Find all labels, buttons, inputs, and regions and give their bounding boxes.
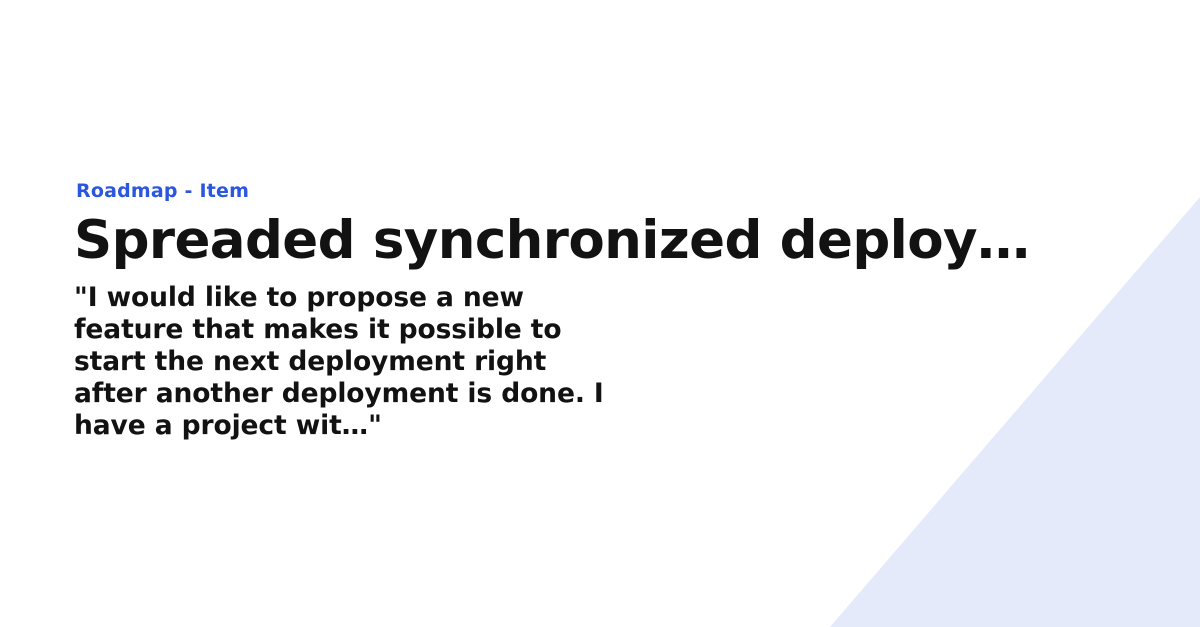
card-content: Roadmap - Item Spreaded synchronized dep… (74, 180, 1134, 442)
page-title: Spreaded synchronized deploy… (74, 210, 1134, 272)
item-excerpt-quote: "I would like to propose a new feature t… (74, 282, 634, 442)
breadcrumb-eyebrow: Roadmap - Item (76, 180, 1134, 202)
og-share-card: Roadmap - Item Spreaded synchronized dep… (0, 0, 1200, 627)
